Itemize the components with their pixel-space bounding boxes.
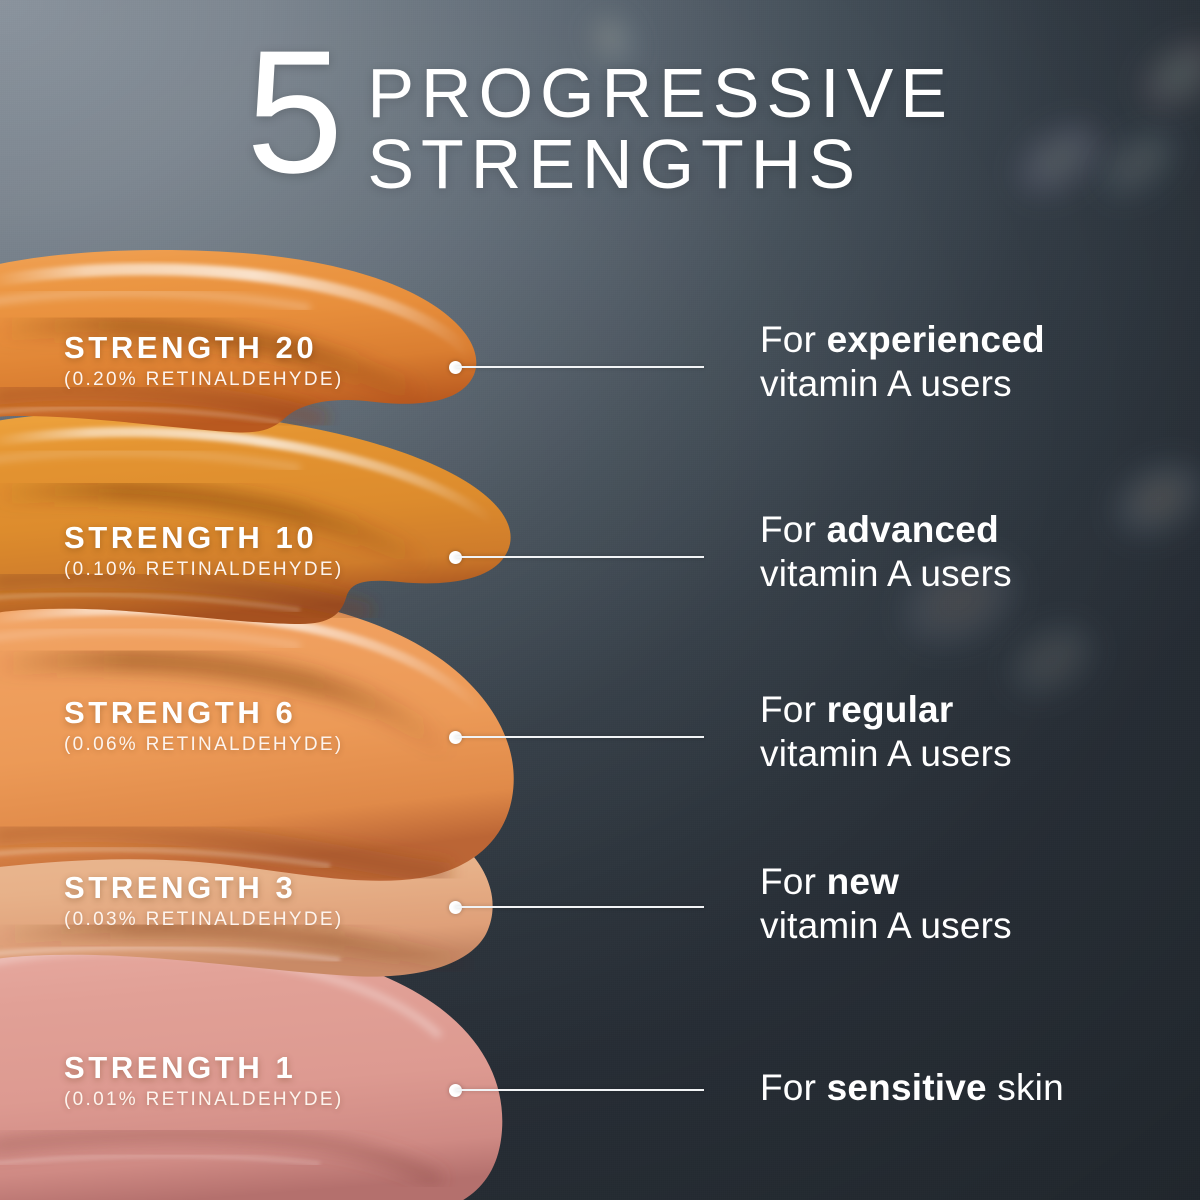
strength-title: STRENGTH 20 [64,332,344,365]
infographic-canvas: 5 PROGRESSIVE STRENGTHS STRENGTH 20 (0.2… [0,0,1200,1200]
description-prefix: For [760,689,827,730]
description-line-1: For regular [760,688,1180,732]
description-keyword: sensitive [827,1067,987,1108]
description-keyword: advanced [827,509,999,550]
connector-strength-3 [449,897,704,917]
description-prefix: For [760,319,827,360]
description-suffix: skin [987,1067,1064,1108]
strength-subtitle: (0.03% RETINALDEHYDE) [64,910,344,930]
swatch-strength-10 [0,411,511,624]
description-line-1: For sensitive skin [760,1066,1180,1110]
description-line-1: For advanced [760,508,1180,552]
label-strength-3: STRENGTH 3 (0.03% RETINALDEHYDE) [64,872,344,930]
description-prefix: For [760,1067,827,1108]
description-keyword: new [827,861,900,902]
headline-line-1: PROGRESSIVE [367,58,954,129]
description-line-1: For experienced [760,318,1180,362]
description-line-2: vitamin A users [760,552,1180,596]
description-keyword: regular [827,689,954,730]
description-line-2: vitamin A users [760,362,1180,406]
description-line-2: vitamin A users [760,732,1180,776]
strength-title: STRENGTH 6 [64,697,344,730]
connector-strength-1 [449,1080,704,1100]
connector-strength-10 [449,547,704,567]
description-strength-6: For regular vitamin A users [760,688,1180,776]
label-strength-20: STRENGTH 20 (0.20% RETINALDEHYDE) [64,332,344,390]
headline-number: 5 [246,38,341,189]
description-strength-20: For experienced vitamin A users [760,318,1180,406]
connector-line [455,366,704,368]
label-strength-10: STRENGTH 10 (0.10% RETINALDEHYDE) [64,522,344,580]
description-prefix: For [760,509,827,550]
strength-subtitle: (0.20% RETINALDEHYDE) [64,370,344,390]
connector-strength-6 [449,727,704,747]
strength-subtitle: (0.06% RETINALDEHYDE) [64,735,344,755]
label-strength-6: STRENGTH 6 (0.06% RETINALDEHYDE) [64,697,344,755]
page-title: 5 PROGRESSIVE STRENGTHS [0,46,1200,201]
headline-words: PROGRESSIVE STRENGTHS [367,46,954,201]
strength-title: STRENGTH 1 [64,1052,344,1085]
strength-subtitle: (0.10% RETINALDEHYDE) [64,560,344,580]
connector-line [455,1089,704,1091]
connector-line [455,736,704,738]
label-strength-1: STRENGTH 1 (0.01% RETINALDEHYDE) [64,1052,344,1110]
description-keyword: experienced [827,319,1045,360]
strength-title: STRENGTH 10 [64,522,344,555]
strength-subtitle: (0.01% RETINALDEHYDE) [64,1090,344,1110]
description-strength-1: For sensitive skin [760,1066,1180,1110]
description-strength-3: For new vitamin A users [760,860,1180,948]
description-prefix: For [760,861,827,902]
description-line-1: For new [760,860,1180,904]
description-line-2: vitamin A users [760,904,1180,948]
strength-title: STRENGTH 3 [64,872,344,905]
headline-line-2: STRENGTHS [367,129,954,200]
description-strength-10: For advanced vitamin A users [760,508,1180,596]
connector-strength-20 [449,357,704,377]
connector-line [455,906,704,908]
connector-line [455,556,704,558]
